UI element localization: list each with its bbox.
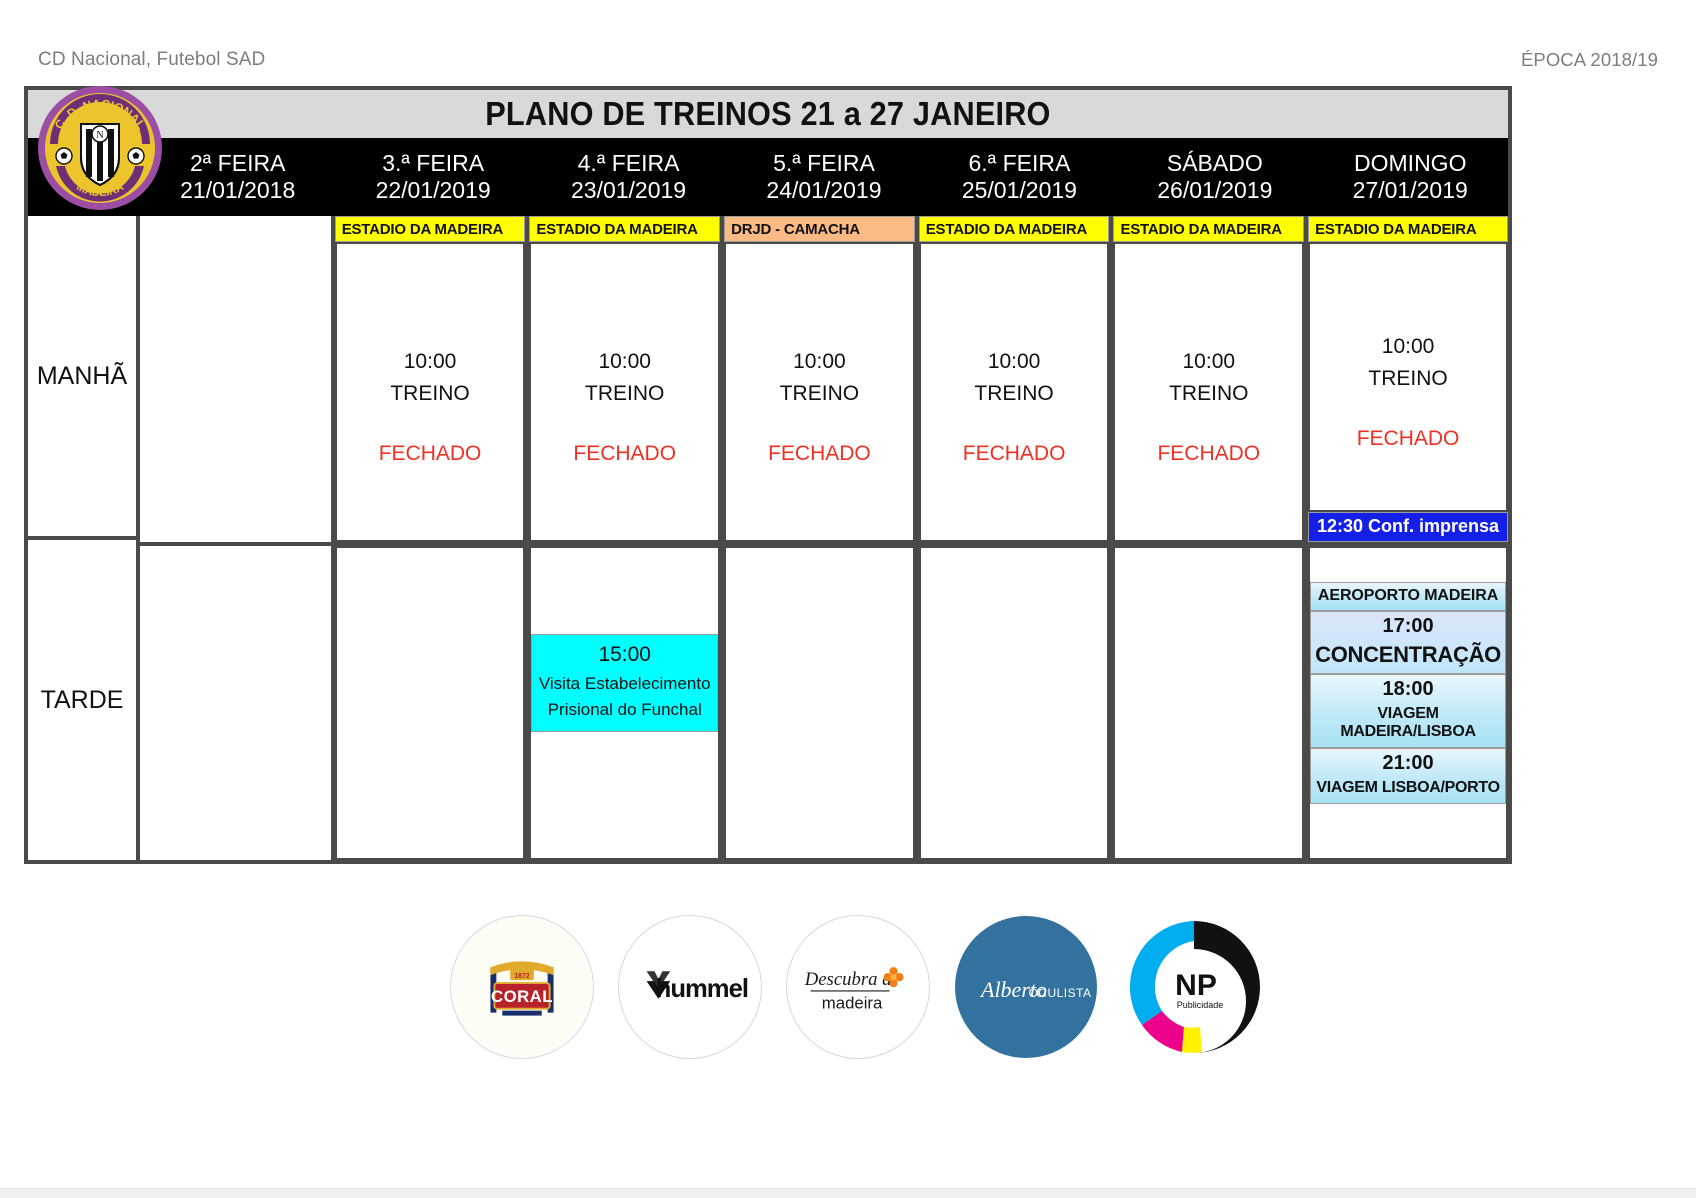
sponsor-strip: CORAL 1872 hummel Descubra a made xyxy=(0,912,1696,1062)
event-prison-visit[interactable]: 15:00 Visita Estabelecimento Prisional d… xyxy=(531,634,718,732)
morning-body-thursday: 10:00 TREINO FECHADO xyxy=(724,242,915,542)
sponsor-np-publicidade: NP Publicidade xyxy=(1122,915,1266,1059)
day-header-row: 2ª FEIRA 21/01/2018 3.ª FEIRA 22/01/2019… xyxy=(28,138,1508,216)
event-flight-2-label: VIAGEM LISBOA/PORTO xyxy=(1311,779,1505,803)
afternoon-body-sunday: AEROPORTO MADEIRA 17:00 CONCENTRAÇÃO 18:… xyxy=(1308,546,1508,860)
morning-status-wednesday: FECHADO xyxy=(573,439,676,468)
day-date-1: 22/01/2019 xyxy=(376,177,491,204)
morning-time-wednesday: 10:00 xyxy=(598,346,651,379)
day-name-4: 6.ª FEIRA xyxy=(968,150,1070,177)
morning-status-saturday: FECHADO xyxy=(1157,439,1260,468)
board-title-bar: PLANO DE TREINOS 21 a 27 JANEIRO xyxy=(28,90,1508,138)
afternoon-body-wednesday: 15:00 Visita Estabelecimento Prisional d… xyxy=(529,546,720,860)
svg-text:OCULISTA: OCULISTA xyxy=(1028,986,1091,1000)
morning-activity-wednesday: TREINO xyxy=(585,378,664,411)
day-date-6: 27/01/2019 xyxy=(1353,177,1468,204)
afternoon-cell-saturday[interactable] xyxy=(1113,546,1304,860)
afternoon-body-thursday xyxy=(724,546,915,860)
day-name-0: 2ª FEIRA xyxy=(190,150,285,177)
event-concentracao-time: 17:00 xyxy=(1311,612,1505,642)
svg-text:NP: NP xyxy=(1175,969,1217,1002)
venue-bar-thursday: DRJD - CAMACHA xyxy=(724,216,915,242)
sponsor-hummel: hummel xyxy=(618,915,762,1059)
venue-bar-sunday: ESTADIO DA MADEIRA xyxy=(1308,216,1508,242)
morning-time-friday: 10:00 xyxy=(988,346,1041,379)
afternoon-body-tuesday xyxy=(335,546,526,860)
press-conference-badge[interactable]: 12:30 Conf. imprensa xyxy=(1308,512,1508,542)
day-name-6: DOMINGO xyxy=(1354,150,1466,177)
afternoon-body-saturday xyxy=(1113,546,1304,860)
sponsor-coral: CORAL 1872 xyxy=(450,915,594,1059)
day-column-wednesday: ESTADIO DA MADEIRA 10:00 TREINO FECHADO xyxy=(529,216,724,860)
svg-text:Publicidade: Publicidade xyxy=(1177,1000,1224,1010)
day-header-1: 3.ª FEIRA 22/01/2019 xyxy=(335,138,530,216)
event-airport[interactable]: AEROPORTO MADEIRA xyxy=(1310,582,1506,611)
day-column-sunday: ESTADIO DA MADEIRA 10:00 TREINO FECHADO … xyxy=(1308,216,1508,860)
event-time: 15:00 xyxy=(534,639,715,671)
day-column-saturday: ESTADIO DA MADEIRA 10:00 TREINO FECHADO xyxy=(1113,216,1308,860)
afternoon-cell-sunday[interactable]: AEROPORTO MADEIRA 17:00 CONCENTRAÇÃO 18:… xyxy=(1308,546,1508,860)
day-column-monday xyxy=(140,216,335,860)
morning-body-friday: 10:00 TREINO FECHADO xyxy=(919,242,1110,542)
afternoon-cell-friday[interactable] xyxy=(919,546,1110,860)
event-flight-madeira-lisboa[interactable]: 18:00 VIAGEM MADEIRA/LISBOA xyxy=(1310,674,1506,748)
event-flight-1-label: VIAGEM MADEIRA/LISBOA xyxy=(1311,705,1505,747)
svg-text:madeira: madeira xyxy=(822,994,883,1013)
day-date-5: 26/01/2019 xyxy=(1157,177,1272,204)
morning-activity-tuesday: TREINO xyxy=(390,378,469,411)
svg-text:Descubra a: Descubra a xyxy=(804,969,892,990)
day-columns: ESTADIO DA MADEIRA 10:00 TREINO FECHADO xyxy=(140,216,1508,860)
morning-body-monday xyxy=(140,242,331,542)
morning-cell-wednesday[interactable]: ESTADIO DA MADEIRA 10:00 TREINO FECHADO xyxy=(529,216,720,546)
club-name: CD Nacional, Futebol SAD xyxy=(38,49,265,71)
day-date-4: 25/01/2019 xyxy=(962,177,1077,204)
day-header-5: SÁBADO 26/01/2019 xyxy=(1117,138,1312,216)
event-flight-1-time: 18:00 xyxy=(1311,675,1505,705)
training-plan-board: PLANO DE TREINOS 21 a 27 JANEIRO 2ª FEIR… xyxy=(24,86,1512,864)
season-label: ÉPOCA 2018/19 xyxy=(1521,49,1658,71)
morning-time-saturday: 10:00 xyxy=(1183,346,1236,379)
svg-text:1872: 1872 xyxy=(514,973,529,980)
morning-body-wednesday: 10:00 TREINO FECHADO xyxy=(529,242,720,542)
day-header-0: 2ª FEIRA 21/01/2018 xyxy=(140,138,335,216)
afternoon-body-monday xyxy=(140,546,331,860)
morning-activity-sunday: TREINO xyxy=(1368,363,1447,396)
day-header-2: 4.ª FEIRA 23/01/2019 xyxy=(531,138,726,216)
row-label-manha: MANHÃ xyxy=(28,216,136,540)
morning-cell-thursday[interactable]: DRJD - CAMACHA 10:00 TREINO FECHADO xyxy=(724,216,915,546)
day-date-0: 21/01/2018 xyxy=(180,177,295,204)
morning-body-saturday: 10:00 TREINO FECHADO xyxy=(1113,242,1304,542)
morning-cell-saturday[interactable]: ESTADIO DA MADEIRA 10:00 TREINO FECHADO xyxy=(1113,216,1304,546)
day-column-tuesday: ESTADIO DA MADEIRA 10:00 TREINO FECHADO xyxy=(335,216,530,860)
morning-status-thursday: FECHADO xyxy=(768,439,871,468)
day-header-6: DOMINGO 27/01/2019 xyxy=(1313,138,1508,216)
morning-status-tuesday: FECHADO xyxy=(379,439,482,468)
club-crest-logo: C. D. NACIONAL MADEIRA N xyxy=(34,82,166,214)
venue-bar-wednesday: ESTADIO DA MADEIRA xyxy=(529,216,720,242)
day-name-2: 4.ª FEIRA xyxy=(578,150,680,177)
page-title: PLANO DE TREINOS 21 a 27 JANEIRO xyxy=(485,95,1050,133)
event-flight-lisboa-porto[interactable]: 21:00 VIAGEM LISBOA/PORTO xyxy=(1310,748,1506,804)
sponsor-alberto-oculista: Alberto OCULISTA xyxy=(954,915,1098,1059)
morning-body-sunday: 10:00 TREINO FECHADO xyxy=(1308,242,1508,512)
morning-cell-monday[interactable] xyxy=(140,216,331,546)
event-flight-2-time: 21:00 xyxy=(1311,749,1505,779)
morning-cell-sunday[interactable]: ESTADIO DA MADEIRA 10:00 TREINO FECHADO … xyxy=(1308,216,1508,546)
venue-bar-friday: ESTADIO DA MADEIRA xyxy=(919,216,1110,242)
morning-cell-friday[interactable]: ESTADIO DA MADEIRA 10:00 TREINO FECHADO xyxy=(919,216,1110,546)
morning-body-tuesday: 10:00 TREINO FECHADO xyxy=(335,242,526,542)
event-line-2: Prisional do Funchal xyxy=(534,697,715,723)
morning-activity-thursday: TREINO xyxy=(780,378,859,411)
morning-activity-saturday: TREINO xyxy=(1169,378,1248,411)
sponsor-descubra-madeira: Descubra a madeira xyxy=(786,915,930,1059)
day-header-4: 6.ª FEIRA 25/01/2019 xyxy=(922,138,1117,216)
day-header-3: 5.ª FEIRA 24/01/2019 xyxy=(726,138,921,216)
morning-cell-tuesday[interactable]: ESTADIO DA MADEIRA 10:00 TREINO FECHADO xyxy=(335,216,526,546)
svg-text:CORAL: CORAL xyxy=(491,987,553,1006)
svg-text:hummel: hummel xyxy=(656,975,748,1003)
event-airport-label: AEROPORTO MADEIRA xyxy=(1311,583,1505,610)
schedule-grid: MANHÃ TARDE ESTADIO DA M xyxy=(28,216,1508,860)
page-bottom-bar xyxy=(0,1188,1696,1198)
day-name-3: 5.ª FEIRA xyxy=(773,150,875,177)
training-plan-page: CD Nacional, Futebol SAD ÉPOCA 2018/19 P… xyxy=(0,0,1696,1198)
day-column-thursday: DRJD - CAMACHA 10:00 TREINO FECHADO xyxy=(724,216,919,860)
page-meta: CD Nacional, Futebol SAD ÉPOCA 2018/19 xyxy=(0,45,1696,75)
morning-time-sunday: 10:00 xyxy=(1382,331,1435,364)
morning-activity-friday: TREINO xyxy=(974,378,1053,411)
day-name-1: 3.ª FEIRA xyxy=(382,150,484,177)
day-date-2: 23/01/2019 xyxy=(571,177,686,204)
day-date-3: 24/01/2019 xyxy=(766,177,881,204)
morning-status-sunday: FECHADO xyxy=(1357,424,1460,453)
svg-text:N: N xyxy=(96,130,103,141)
morning-time-tuesday: 10:00 xyxy=(404,346,457,379)
event-line-1: Visita Estabelecimento xyxy=(534,671,715,697)
day-name-5: SÁBADO xyxy=(1167,150,1263,177)
event-concentracao-label: CONCENTRAÇÃO xyxy=(1311,642,1505,673)
venue-bar-monday xyxy=(140,216,331,242)
afternoon-cell-thursday[interactable] xyxy=(724,546,915,860)
day-column-friday: ESTADIO DA MADEIRA 10:00 TREINO FECHADO xyxy=(919,216,1114,860)
morning-status-friday: FECHADO xyxy=(963,439,1066,468)
afternoon-body-friday xyxy=(919,546,1110,860)
venue-bar-saturday: ESTADIO DA MADEIRA xyxy=(1113,216,1304,242)
afternoon-cell-wednesday[interactable]: 15:00 Visita Estabelecimento Prisional d… xyxy=(529,546,720,860)
row-label-tarde: TARDE xyxy=(28,540,136,860)
venue-bar-tuesday: ESTADIO DA MADEIRA xyxy=(335,216,526,242)
event-concentracao[interactable]: 17:00 CONCENTRAÇÃO xyxy=(1310,611,1506,674)
afternoon-cell-tuesday[interactable] xyxy=(335,546,526,860)
row-label-column: MANHÃ TARDE xyxy=(28,216,140,860)
afternoon-cell-monday[interactable] xyxy=(140,546,331,860)
morning-time-thursday: 10:00 xyxy=(793,346,846,379)
